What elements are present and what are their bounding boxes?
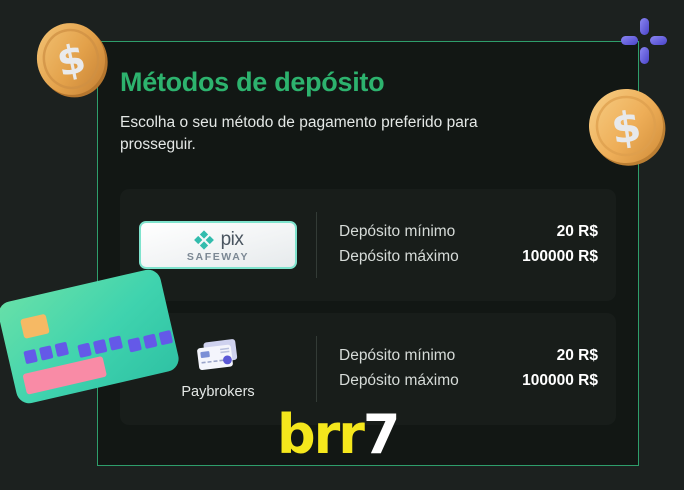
brr7-watermark: brr7 — [277, 408, 399, 462]
credit-cards-icon — [191, 338, 245, 376]
limit-row: Depósito máximo 100000 R$ — [339, 369, 598, 393]
pix-diamond-icon — [193, 229, 215, 251]
limit-value: 20 R$ — [557, 220, 598, 244]
page-subtitle: Escolha o seu método de pagamento prefer… — [120, 112, 520, 157]
limit-row: Depósito mínimo 20 R$ — [339, 344, 598, 368]
paybrokers-brand-block: Paybrokers — [120, 338, 316, 400]
limit-value: 20 R$ — [557, 344, 598, 368]
limit-row: Depósito mínimo 20 R$ — [339, 220, 598, 244]
limit-label: Depósito máximo — [339, 245, 459, 269]
limit-label: Depósito mínimo — [339, 344, 455, 368]
limit-value: 100000 R$ — [522, 245, 598, 269]
payment-methods-list: pix SAFEWAY Depósito mínimo 20 R$ Depósi… — [120, 189, 616, 425]
limit-value: 100000 R$ — [522, 369, 598, 393]
svg-text:$: $ — [53, 36, 90, 87]
page-title: Métodos de depósito — [120, 68, 616, 98]
watermark-seven-text: 7 — [363, 403, 399, 466]
paybrokers-limits: Depósito mínimo 20 R$ Depósito máximo 10… — [317, 344, 616, 393]
pix-brand-block: pix SAFEWAY — [120, 221, 316, 269]
pix-safeway-label: SAFEWAY — [187, 252, 249, 263]
limit-label: Depósito máximo — [339, 369, 459, 393]
paybrokers-label: Paybrokers — [181, 384, 254, 400]
pix-wordmark: pix — [221, 230, 244, 249]
pix-logo-chip: pix SAFEWAY — [139, 221, 297, 269]
pix-limits: Depósito mínimo 20 R$ Depósito máximo 10… — [317, 220, 616, 269]
watermark-brr-text: brr — [277, 403, 363, 466]
limit-label: Depósito mínimo — [339, 220, 455, 244]
payment-method-pix[interactable]: pix SAFEWAY Depósito mínimo 20 R$ Depósi… — [120, 189, 616, 301]
limit-row: Depósito máximo 100000 R$ — [339, 245, 598, 269]
